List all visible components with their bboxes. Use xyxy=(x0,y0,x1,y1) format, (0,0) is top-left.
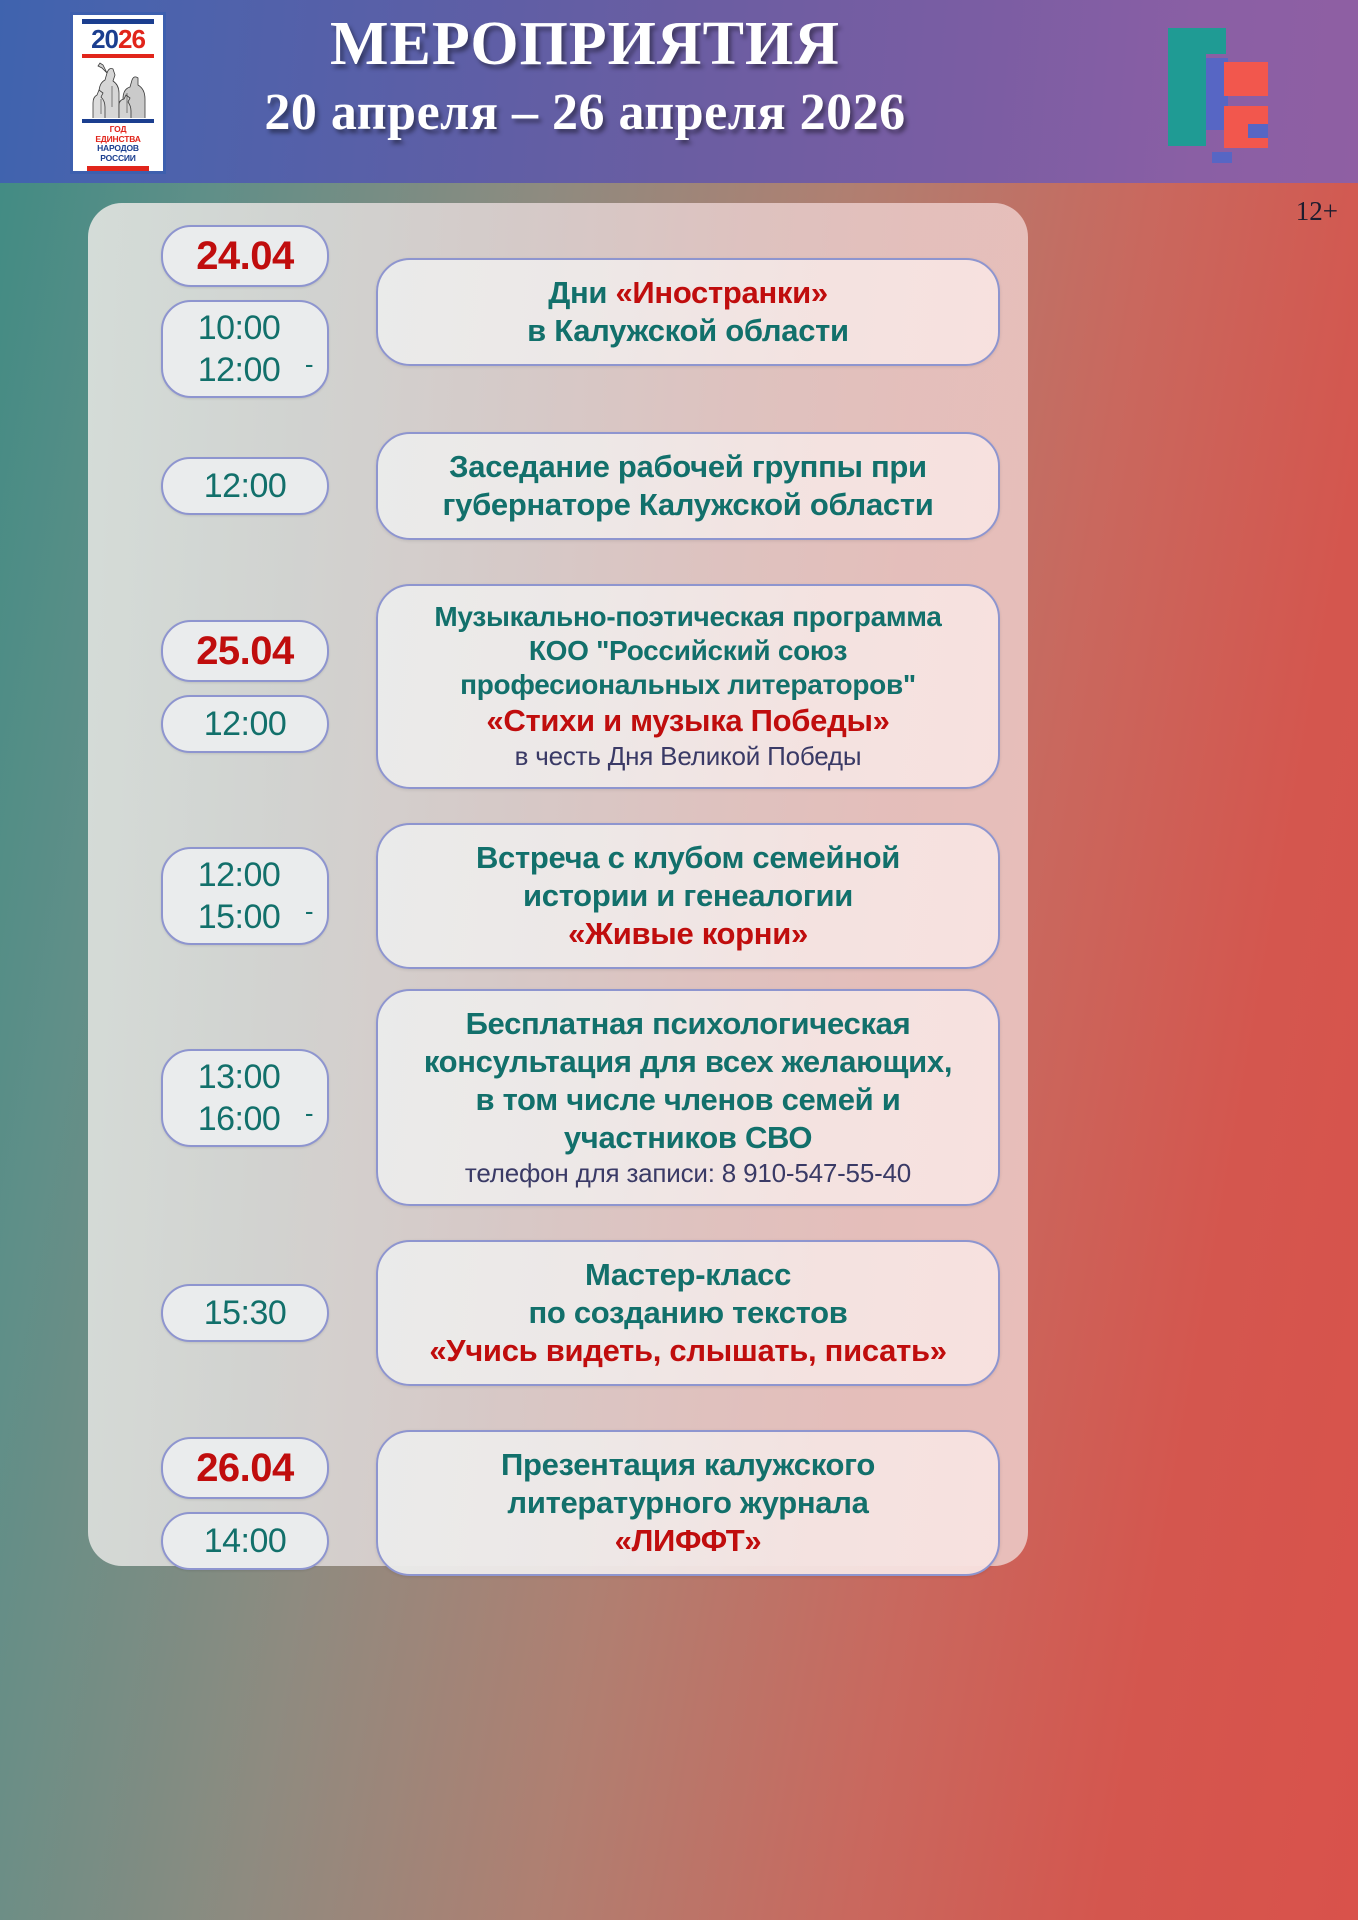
event-line-highlight: «Учись видеть, слышать, писать» xyxy=(396,1332,980,1370)
date-pill: 26.04 xyxy=(161,1437,329,1499)
event-card: Мастер-класс по созданию текстов «Учись … xyxy=(376,1240,1000,1386)
event-card: Музыкально-поэтическая программа КОО "Ро… xyxy=(376,584,1000,789)
event-line: по созданию текстов xyxy=(396,1294,980,1332)
year-of-unity-emblem: 2026 ГОД ЕДИНСТВА xyxy=(70,12,166,174)
event-card: Заседание рабочей группы при губернаторе… xyxy=(376,432,1000,540)
row-spacer xyxy=(88,540,1028,584)
event-line: губернаторе Калужской области xyxy=(396,486,980,524)
time-pill: 15:30 xyxy=(161,1284,329,1342)
row-spacer xyxy=(88,969,1028,989)
event-text-teal: Дни xyxy=(548,275,615,310)
event-line-highlight: «Живые корни» xyxy=(396,915,980,953)
emblem-year-blue: 20 xyxy=(91,24,118,54)
time-dash: - xyxy=(305,890,313,932)
library-b-monogram-icon xyxy=(1154,28,1280,163)
library-logo-icon xyxy=(1154,28,1280,163)
time-dash: - xyxy=(305,1092,313,1134)
event-card: Встреча с клубом семейной истории и гене… xyxy=(376,823,1000,969)
time-column: 24.04 10:00 12:00 - xyxy=(136,225,354,398)
event-line: консультация для всех желающих, xyxy=(396,1043,980,1081)
event-text-red: «Иностранки» xyxy=(615,275,827,310)
emblem-bar-bottom xyxy=(82,119,154,123)
event-line: литературного журнала xyxy=(396,1484,980,1522)
schedule-row: 15:30 Мастер-класс по созданию текстов «… xyxy=(88,1240,1028,1386)
event-line: участников СВО xyxy=(396,1119,980,1157)
event-line: в Калужской области xyxy=(396,312,980,350)
event-line-note: телефон для записи: 8 910-547-55-40 xyxy=(396,1157,980,1190)
row-spacer xyxy=(88,398,1028,432)
event-line-highlight: «Стихи и музыка Победы» xyxy=(396,702,980,740)
event-line: истории и генеалогии xyxy=(396,877,980,915)
emblem-monument-icon xyxy=(79,59,157,119)
poster-background: 2026 ГОД ЕДИНСТВА xyxy=(0,0,1358,1920)
time-column: 12:00 xyxy=(136,457,354,515)
event-line: в том числе членов семей и xyxy=(396,1081,980,1119)
event-line: професиональных литераторов" xyxy=(396,668,980,702)
time-pill: 10:00 12:00 - xyxy=(161,300,329,398)
event-line: Бесплатная психологическая xyxy=(396,1005,980,1043)
header-banner: 2026 ГОД ЕДИНСТВА xyxy=(0,0,1358,183)
event-line: Встреча с клубом семейной xyxy=(396,839,980,877)
time-from: 12:00 xyxy=(181,854,297,896)
row-spacer xyxy=(88,1386,1028,1430)
time-column: 26.04 14:00 xyxy=(136,1437,354,1570)
time-pill: 12:00 xyxy=(161,457,329,515)
time-pill: 13:00 16:00 - xyxy=(161,1049,329,1147)
schedule-panel: 24.04 10:00 12:00 - Дни «Иностранки» в К… xyxy=(88,203,1028,1566)
schedule-row: 24.04 10:00 12:00 - Дни «Иностранки» в К… xyxy=(88,225,1028,398)
time-pill: 12:00 xyxy=(161,695,329,753)
time-column: 12:00 15:00 - xyxy=(136,847,354,945)
event-line: Музыкально-поэтическая программа xyxy=(396,600,980,634)
emblem-year-red: 26 xyxy=(118,24,145,54)
time-column: 15:30 xyxy=(136,1284,354,1342)
emblem-caption: ГОД ЕДИНСТВА НАРОДОВ РОССИИ xyxy=(95,125,140,163)
event-card: Дни «Иностранки» в Калужской области xyxy=(376,258,1000,366)
time-to: 15:00 xyxy=(181,896,297,938)
row-spacer xyxy=(88,789,1028,823)
time-dash: - xyxy=(305,343,313,385)
schedule-row: 25.04 12:00 Музыкально-поэтическая прогр… xyxy=(88,584,1028,789)
emblem-bar-red xyxy=(82,54,154,58)
header-titles: МЕРОПРИЯТИЯ 20 апреля – 26 апреля 2026 xyxy=(190,8,980,146)
event-card: Бесплатная психологическая консультация … xyxy=(376,989,1000,1206)
date-pill: 25.04 xyxy=(161,620,329,682)
time-to: 12:00 xyxy=(181,349,297,391)
age-rating-badge: 12+ xyxy=(1296,196,1338,227)
schedule-row: 12:00 Заседание рабочей группы при губер… xyxy=(88,432,1028,540)
time-column: 25.04 12:00 xyxy=(136,620,354,753)
event-line: Заседание рабочей группы при xyxy=(396,448,980,486)
time-pill: 12:00 15:00 - xyxy=(161,847,329,945)
emblem-caption-line4: РОССИИ xyxy=(95,154,140,164)
event-line: Презентация калужского xyxy=(396,1446,980,1484)
event-line-highlight: «ЛИФФТ» xyxy=(396,1522,980,1560)
time-to: 16:00 xyxy=(181,1098,297,1140)
time-column: 13:00 16:00 - xyxy=(136,1049,354,1147)
event-line: КОО "Российский союз xyxy=(396,634,980,668)
event-card: Презентация калужского литературного жур… xyxy=(376,1430,1000,1576)
time-from: 10:00 xyxy=(181,307,297,349)
time-pill: 14:00 xyxy=(161,1512,329,1570)
row-spacer xyxy=(88,1206,1028,1240)
page-title: МЕРОПРИЯТИЯ xyxy=(190,8,980,80)
event-line: Мастер-класс xyxy=(396,1256,980,1294)
schedule-row: 13:00 16:00 - Бесплатная психологическая… xyxy=(88,989,1028,1206)
emblem-bar-final xyxy=(87,166,149,171)
event-line-note: в честь Дня Великой Победы xyxy=(396,740,980,773)
emblem-year: 2026 xyxy=(91,26,145,52)
event-line: Дни «Иностранки» xyxy=(396,274,980,312)
schedule-row: 26.04 14:00 Презентация калужского литер… xyxy=(88,1430,1028,1576)
time-from: 13:00 xyxy=(181,1056,297,1098)
date-range-subtitle: 20 апреля – 26 апреля 2026 xyxy=(190,80,980,146)
monument-figures-icon xyxy=(79,59,157,119)
schedule-row: 12:00 15:00 - Встреча с клубом семейной … xyxy=(88,823,1028,969)
date-pill: 24.04 xyxy=(161,225,329,287)
